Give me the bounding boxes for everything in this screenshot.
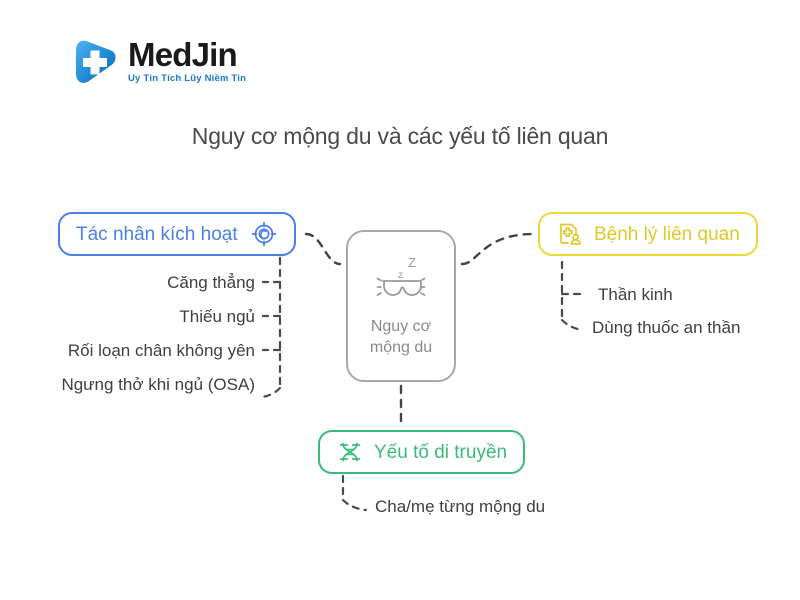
target-head-icon: [250, 220, 278, 248]
sleep-mask-zzz-icon: Z z: [373, 254, 429, 305]
leaf-item-triggers-2: Rối loạn chân không yên: [68, 341, 255, 361]
center-node-sleepwalking-risk[interactable]: Z z Nguy cơ mộng du: [346, 230, 456, 382]
center-node-label-line2: mộng du: [370, 339, 432, 356]
leaf-item-triggers-0: Căng thẳng: [167, 273, 255, 293]
branch-label-triggers: Tác nhân kích hoạt: [76, 225, 238, 244]
svg-text:z: z: [398, 270, 403, 281]
dna-icon: [336, 438, 364, 466]
connector-triggers-center: [306, 234, 340, 264]
svg-text:Z: Z: [408, 255, 416, 270]
center-node-label-line1: Nguy cơ: [371, 318, 431, 335]
branch-node-triggers[interactable]: Tác nhân kích hoạt: [58, 212, 296, 256]
center-node-label: Nguy cơ mộng du: [370, 317, 432, 359]
branch-node-genetics[interactable]: Yếu tố di truyền: [318, 430, 525, 474]
leaf-item-triggers-3: Ngưng thở khi ngủ (OSA): [61, 375, 255, 395]
connector-center-conditions: [462, 234, 534, 264]
leaf-item-conditions-0: Thần kinh: [598, 285, 673, 305]
branch-node-conditions[interactable]: Bệnh lý liên quan: [538, 212, 758, 256]
branch-label-conditions: Bệnh lý liên quan: [594, 225, 740, 244]
connector-triggers-item-3: [262, 388, 280, 397]
leaf-item-triggers-1: Thiếu ngủ: [179, 307, 255, 327]
medical-record-patient-icon: [556, 220, 584, 248]
leaf-item-conditions-1: Dùng thuốc an thần: [592, 318, 740, 338]
leaf-item-genetics-0: Cha/mẹ từng mộng du: [375, 497, 545, 517]
infographic-canvas: MedJin Uy Tín Tích Lũy Niềm Tin Nguy cơ …: [0, 0, 800, 600]
branch-label-genetics: Yếu tố di truyền: [374, 443, 507, 462]
connector-conditions-item-1: [562, 320, 583, 330]
connector-genetics-item-0: [343, 476, 366, 510]
